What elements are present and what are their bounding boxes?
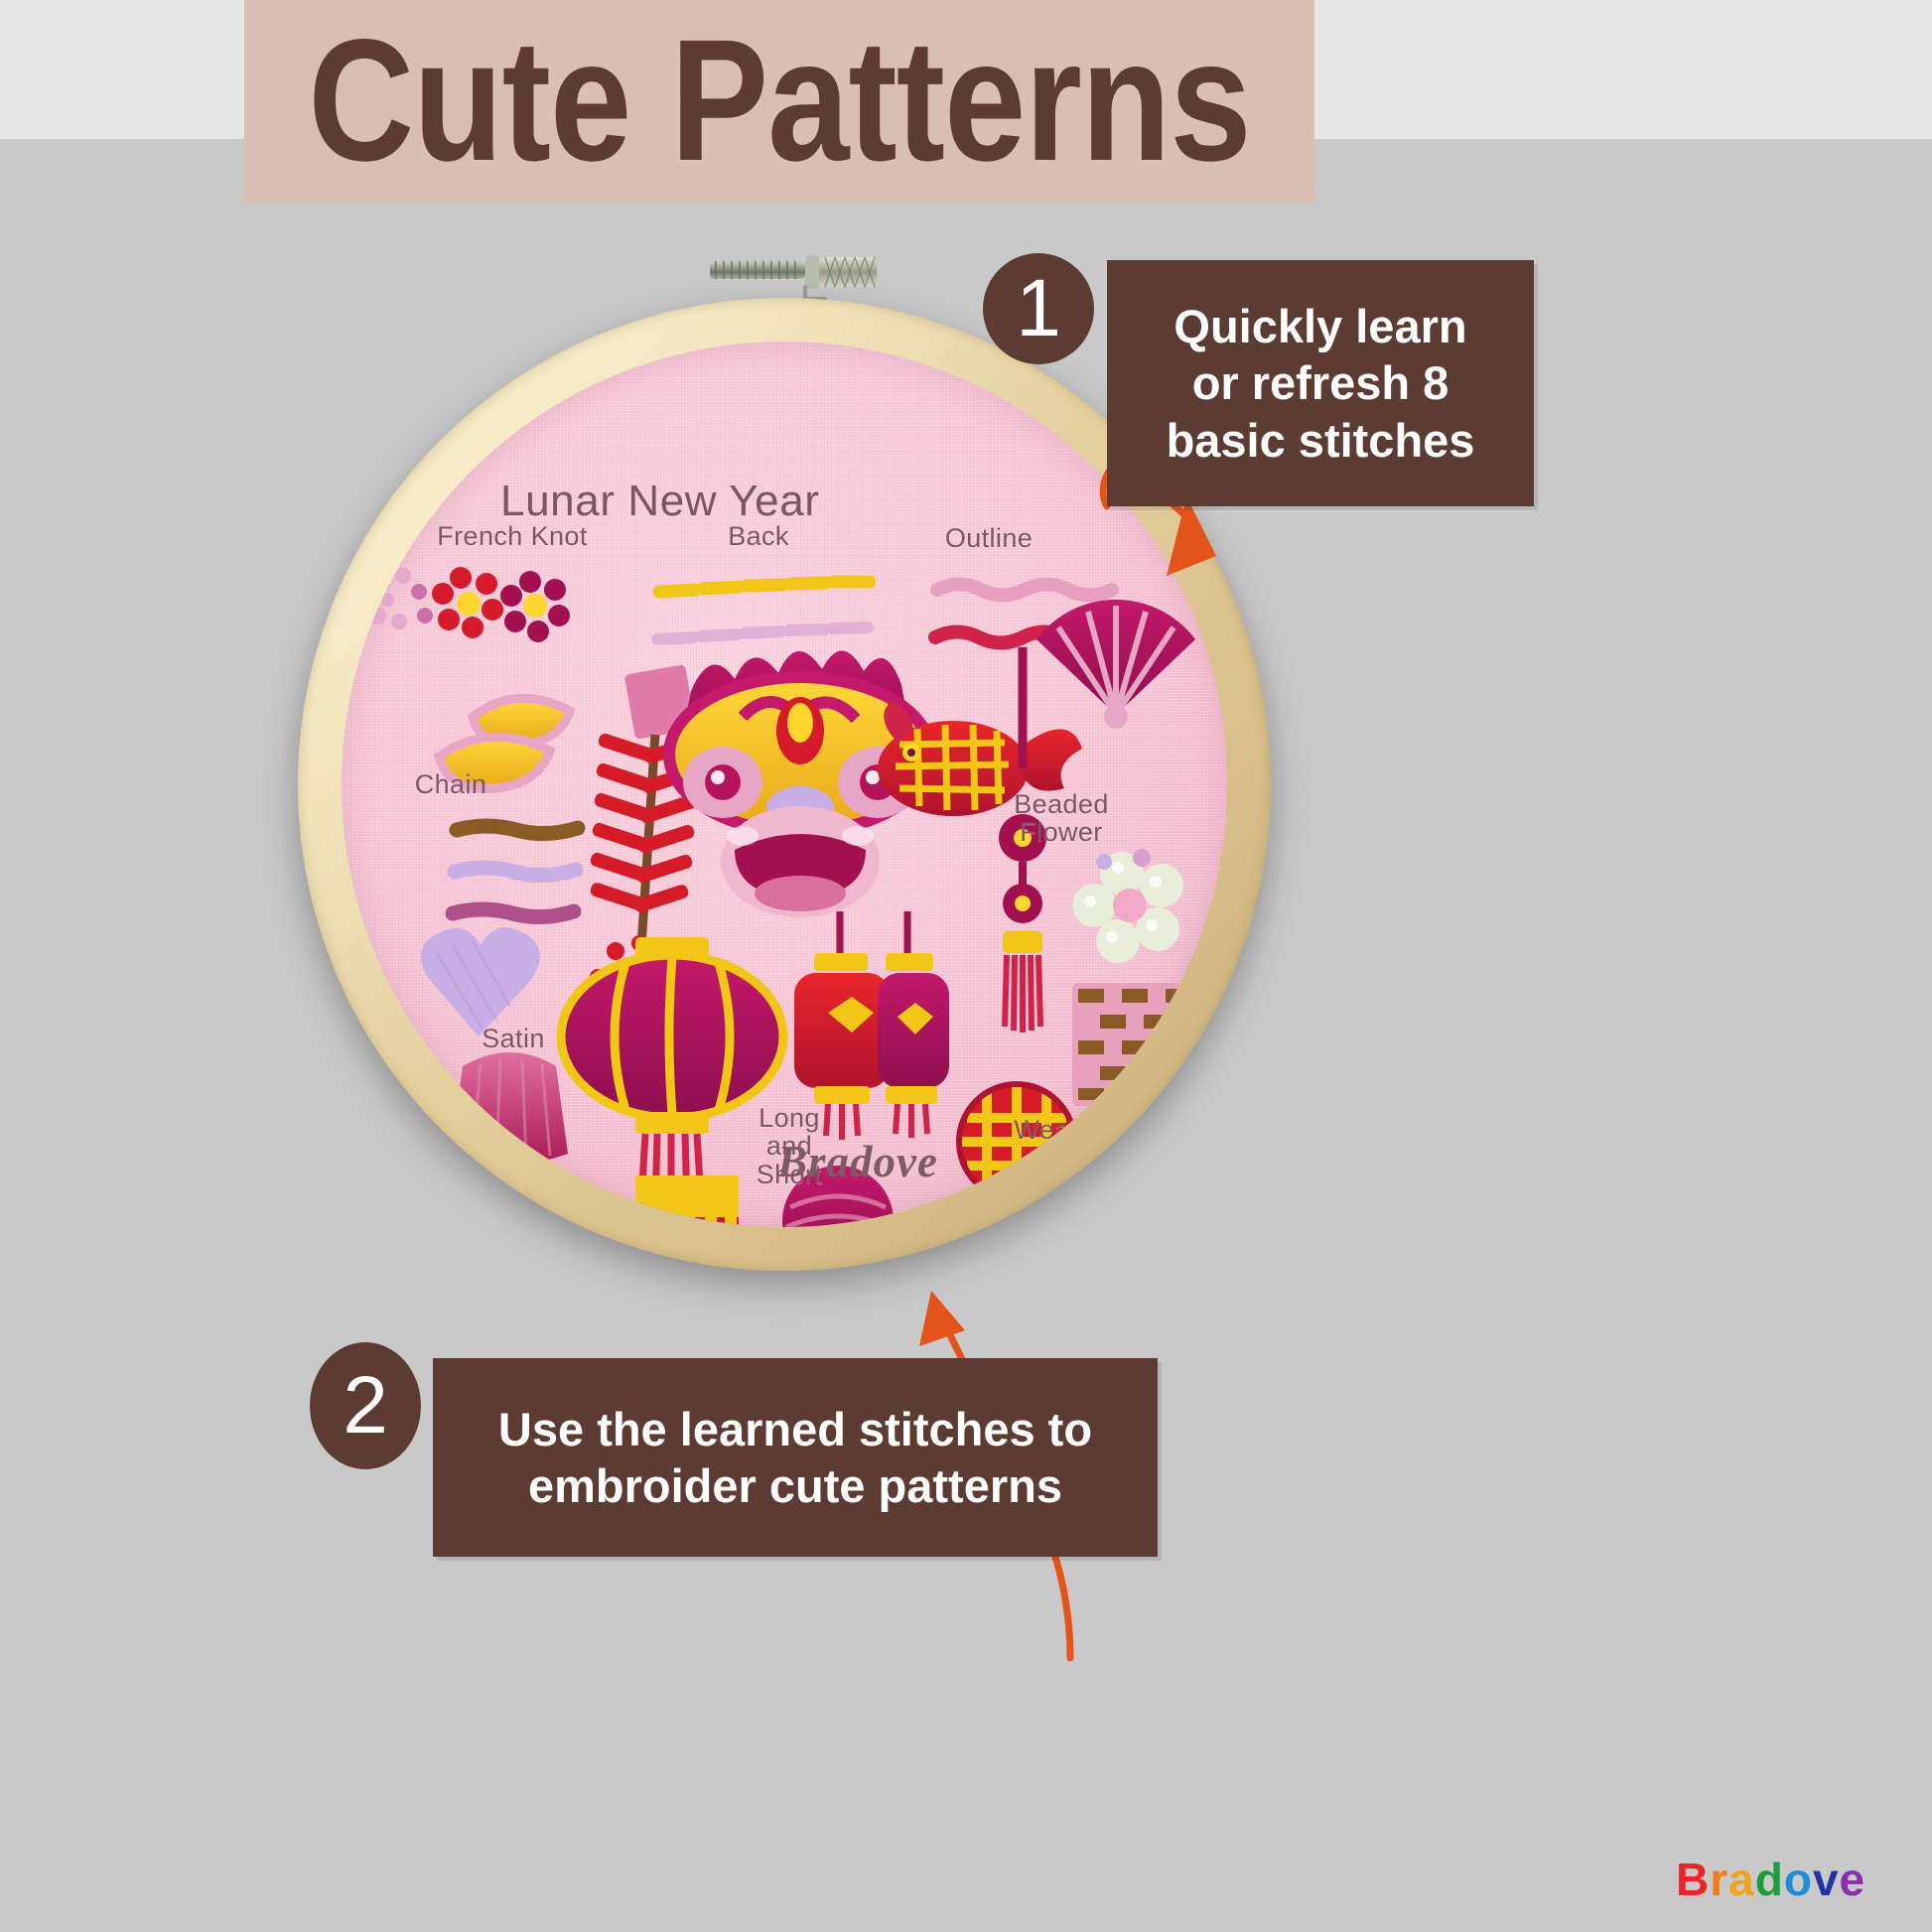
logo-letter-0: B [1676, 1853, 1710, 1906]
pink-fabric-panel: Lunar New Year [342, 342, 1227, 1227]
brand-logo: Bradove [1676, 1853, 1865, 1906]
callout-1-line-2: or refresh 8 [1167, 354, 1475, 411]
callout-2-box: Use the learned stitches to embroider cu… [433, 1358, 1158, 1557]
logo-letter-4: o [1784, 1853, 1813, 1906]
top-left-strip [0, 0, 244, 139]
stitch-label-weave: Weave [987, 1116, 1126, 1144]
motif-beaded-flower [1072, 849, 1183, 963]
motif-weave-square [1072, 983, 1197, 1106]
callout-1-line-1: Quickly learn [1167, 298, 1475, 354]
stitch-label-outline: Outline [919, 524, 1058, 552]
logo-letter-5: v [1813, 1853, 1840, 1906]
logo-letter-2: a [1728, 1853, 1755, 1906]
stitch-label-chain: Chain [381, 770, 520, 798]
callout-1-number-badge: 1 [983, 253, 1094, 364]
callout-2-line-1: Use the learned stitches to [498, 1401, 1092, 1457]
motif-chain-stitch [453, 826, 578, 917]
motif-french-knot [368, 567, 570, 642]
motif-back-stitch [657, 582, 870, 639]
hoop-screw-hardware [702, 243, 910, 303]
callout-1-box: Quickly learn or refresh 8 basic stitche… [1107, 260, 1534, 506]
stitch-label-back: Back [699, 522, 818, 550]
title-banner: Cute Patterns [244, 0, 1314, 203]
fabric-brand-signature: Bradove [709, 1136, 1007, 1187]
stitch-label-beaded-flower: Beaded Flower [987, 790, 1136, 847]
motif-shell-satin [451, 1052, 568, 1165]
callout-1-line-3: basic stitches [1167, 412, 1475, 469]
top-right-strip [1314, 0, 1932, 139]
motif-heart-satin [421, 927, 540, 1036]
stitch-label-satin: Satin [449, 1025, 578, 1052]
logo-letter-3: d [1755, 1853, 1784, 1906]
long-and-short-line-1: Long [735, 1104, 844, 1132]
callout-2-number-badge: 2 [310, 1342, 421, 1469]
stitch-label-french-knot: French Knot [403, 522, 621, 550]
motif-hand-fan [1036, 600, 1195, 729]
logo-letter-6: e [1840, 1853, 1866, 1906]
logo-letter-1: r [1710, 1853, 1728, 1906]
page-title: Cute Patterns [308, 15, 1250, 189]
callout-2-line-2: embroider cute patterns [498, 1457, 1092, 1514]
